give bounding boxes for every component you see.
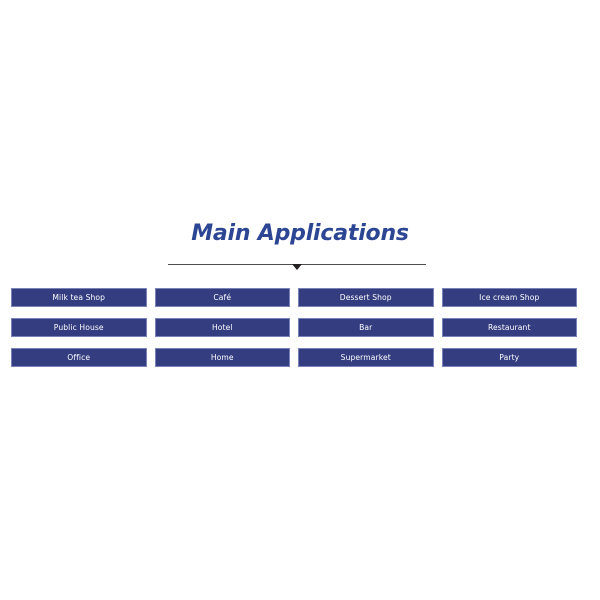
application-chip[interactable]: Café xyxy=(155,288,291,307)
applications-row: Public House Hotel Bar Restaurant xyxy=(11,318,577,337)
application-chip-label: Dessert Shop xyxy=(340,294,392,302)
application-chip[interactable]: Supermarket xyxy=(298,348,434,367)
application-chip-label: Public House xyxy=(54,324,104,332)
application-chip-label: Ice cream Shop xyxy=(479,294,539,302)
caret-down-icon xyxy=(292,264,302,270)
application-chip[interactable]: Ice cream Shop xyxy=(442,288,578,307)
application-chip[interactable]: Restaurant xyxy=(442,318,578,337)
application-chip-label: Supermarket xyxy=(341,354,391,362)
application-chip[interactable]: Bar xyxy=(298,318,434,337)
application-chip-label: Office xyxy=(67,354,90,362)
title-divider xyxy=(168,262,426,272)
page-title: Main Applications xyxy=(0,220,600,248)
application-chip-label: Bar xyxy=(359,324,372,332)
application-chip[interactable]: Milk tea Shop xyxy=(11,288,147,307)
application-chip-label: Restaurant xyxy=(488,324,531,332)
applications-grid: Milk tea Shop Café Dessert Shop Ice crea… xyxy=(11,288,577,367)
application-chip[interactable]: Hotel xyxy=(155,318,291,337)
application-chip-label: Hotel xyxy=(212,324,233,332)
application-chip[interactable]: Public House xyxy=(11,318,147,337)
title-block: Main Applications xyxy=(0,220,600,248)
application-chip-label: Café xyxy=(213,294,231,302)
application-canvas: Main Applications Milk tea Shop Café Des… xyxy=(0,0,600,600)
application-chip[interactable]: Home xyxy=(155,348,291,367)
application-chip-label: Milk tea Shop xyxy=(52,294,105,302)
application-chip[interactable]: Office xyxy=(11,348,147,367)
application-chip[interactable]: Dessert Shop xyxy=(298,288,434,307)
application-chip-label: Home xyxy=(211,354,234,362)
applications-row: Milk tea Shop Café Dessert Shop Ice crea… xyxy=(11,288,577,307)
application-chip[interactable]: Party xyxy=(442,348,578,367)
application-chip-label: Party xyxy=(499,354,519,362)
applications-row: Office Home Supermarket Party xyxy=(11,348,577,367)
